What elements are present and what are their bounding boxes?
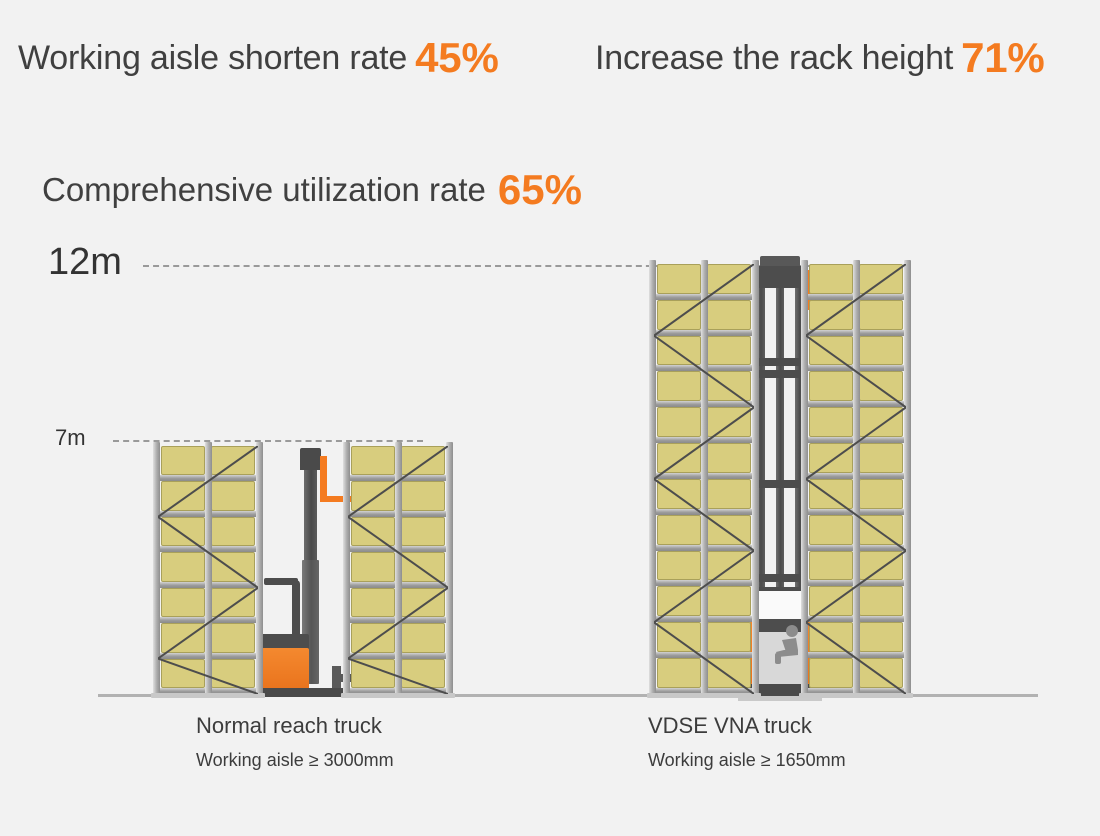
pallet-unit-load [401,446,445,475]
pallet-unit-load [859,371,903,401]
pallet-unit-load [161,623,205,652]
comparison-diagram: 12m 7m [0,0,1100,836]
pallet-unit-load [211,481,255,510]
pallet-unit-load [707,551,751,581]
pallet-unit-load [161,588,205,617]
pallet-unit-load [859,300,903,330]
vna-truck-cab-window [754,587,806,623]
pallet-unit-load [809,658,853,688]
pallet-unit-load [657,586,701,616]
rack-upright-frame [343,442,350,694]
rack-upright-frame [446,442,453,694]
rack-upright-frame [904,260,911,694]
pallet-unit-load [657,407,701,437]
rack-upright-frame [205,442,212,694]
vna-truck-mast-crossbar-lower [754,574,806,582]
pallet-unit-load [401,588,445,617]
caption-right: VDSE VNA truck Working aisle ≥ 1650mm [648,714,846,771]
pallet-unit-load [707,300,751,330]
rack-upright-frame [153,442,160,694]
pallet-unit-load [161,481,205,510]
caption-right-subtitle: Working aisle ≥ 1650mm [648,751,846,771]
pallet-unit-load [707,443,751,473]
reach-truck-back-rest [292,580,300,642]
pallet-unit-load [657,479,701,509]
pallet-unit-load [161,659,205,688]
pallet-unit-load [351,517,395,546]
pallet-unit-load [211,446,255,475]
pallet-unit-load [859,479,903,509]
pallet-unit-load [707,658,751,688]
pallet-unit-load [707,336,751,366]
pallet-unit-load [351,623,395,652]
rack-upright-frame [395,442,402,694]
pallet-unit-load [657,264,701,294]
pallet-unit-load [859,407,903,437]
reach-truck-mast-cap [300,448,321,470]
pallet-unit-load [859,515,903,545]
rack-left-far [348,446,448,694]
pallet-unit-load [859,586,903,616]
pallet-unit-load [401,481,445,510]
rack-upright-frame [256,442,263,694]
pallet-unit-load [859,658,903,688]
pallet-unit-load [707,515,751,545]
pallet-unit-load [161,552,205,581]
pallet-unit-load [657,336,701,366]
pallet-unit-load [211,552,255,581]
pallet-unit-load [211,623,255,652]
rack-right-near [654,264,754,694]
caption-left-title: Normal reach truck [196,714,394,738]
pallet-unit-load [809,622,853,652]
caption-left: Normal reach truck Working aisle ≥ 3000m… [196,714,394,771]
rack-right-far [806,264,906,694]
pallet-unit-load [401,517,445,546]
pallet-unit-load [707,264,751,294]
pallet-unit-load [657,300,701,330]
pallet-unit-load [401,552,445,581]
caption-left-subtitle: Working aisle ≥ 3000mm [196,751,394,771]
pallet-unit-load [707,407,751,437]
reach-truck [258,448,350,698]
pallet-unit-load [351,481,395,510]
rack-upright-frame [701,260,708,694]
pallet-unit-load [401,623,445,652]
rack-base-plate [647,693,761,698]
pallet-unit-load [809,300,853,330]
pallet-unit-load [211,659,255,688]
pallet-unit-load [211,517,255,546]
pallet-unit-load [161,517,205,546]
pallet-unit-load [809,371,853,401]
pallet-unit-load [809,336,853,366]
vna-truck-mast-head [754,266,806,288]
pallet-unit-load [707,479,751,509]
rack-upright-frame [853,260,860,694]
vna-truck-operator-icon [774,624,804,664]
pallet-unit-load [809,407,853,437]
pallet-unit-load [657,658,701,688]
pallet-unit-load [859,264,903,294]
vna-truck-mast-crossbar-upper2 [754,370,806,378]
caption-right-title: VDSE VNA truck [648,714,846,738]
pallet-unit-load [809,443,853,473]
pallet-unit-load [351,446,395,475]
height-label-7m: 7m [55,427,86,449]
pallet-unit-load [657,443,701,473]
pallet-unit-load [657,551,701,581]
pallet-unit-load [859,622,903,652]
pallet-unit-load [809,479,853,509]
pallet-unit-load [809,264,853,294]
pallet-unit-load [809,515,853,545]
vna-truck-mast-rail-center [776,288,784,636]
height-label-12m: 12m [48,243,122,281]
pallet-unit-load [657,371,701,401]
pallet-unit-load [351,659,395,688]
rack-upright-frame [649,260,656,694]
pallet-unit-load [351,552,395,581]
pallet-unit-load [211,588,255,617]
rack-base-plate [151,693,265,698]
pallet-unit-load [657,515,701,545]
rack-upright-frame [801,260,808,694]
pallet-unit-load [859,336,903,366]
rack-base-plate [341,693,455,698]
pallet-unit-load [859,443,903,473]
pallet-unit-load [707,371,751,401]
vna-truck-mast-crossbar-upper [754,358,806,366]
pallet-unit-load [401,659,445,688]
pallet-unit-load [859,551,903,581]
pallet-unit-load [809,586,853,616]
pallet-unit-load [351,588,395,617]
pallet-unit-load [707,622,751,652]
pallet-unit-load [707,586,751,616]
rack-left-near [158,446,258,694]
pallet-unit-load [809,551,853,581]
vna-truck-mast-crossbar-mid [754,480,806,488]
rack-base-plate [799,693,913,698]
rack-upright-frame [752,260,759,694]
pallet-unit-load [161,446,205,475]
pallet-unit-load [657,622,701,652]
